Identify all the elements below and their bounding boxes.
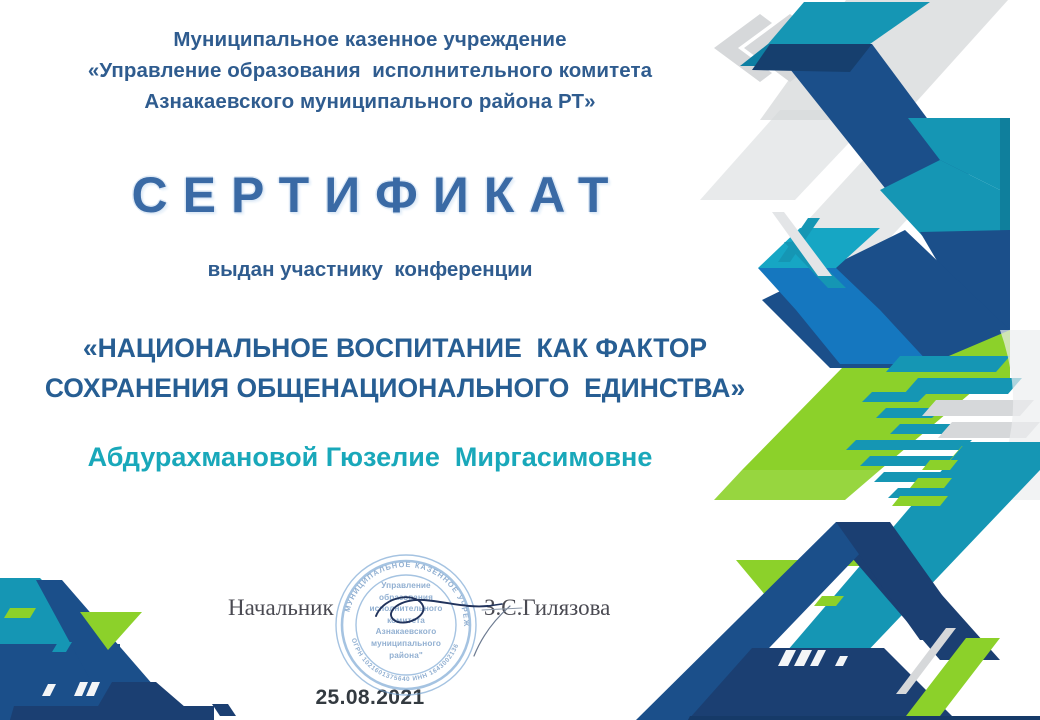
recipient-name: Абдурахмановой Гюзелие Миргасимовне xyxy=(0,442,740,473)
org-header-line-1: Муниципальное казенное учреждение xyxy=(0,24,740,55)
org-header-line-2: «Управление образования исполнительного … xyxy=(0,55,740,86)
conference-title-line-2: СОХРАНЕНИЯ ОБЩЕНАЦИОНАЛЬНОГО ЕДИНСТВА» xyxy=(0,368,790,408)
conference-title-line-1: «НАЦИОНАЛЬНОЕ ВОСПИТАНИЕ КАК ФАКТОР xyxy=(0,328,790,368)
conference-title: «НАЦИОНАЛЬНОЕ ВОСПИТАНИЕ КАК ФАКТОР СОХР… xyxy=(0,328,790,408)
organization-header: Муниципальное казенное учреждение «Управ… xyxy=(0,24,740,117)
issued-to-label: выдан участнику конференции xyxy=(0,258,740,282)
handwritten-signature xyxy=(370,570,590,660)
top-right-graphic xyxy=(700,0,1014,500)
certificate-title: СЕРТИФИКАТ xyxy=(0,166,740,224)
signatory-role: Начальник xyxy=(228,595,334,621)
org-header-line-3: Азнакаевского муниципального района РТ» xyxy=(0,86,740,117)
right-stripe-band xyxy=(886,330,1040,500)
certificate-page: Муниципальное казенное учреждение «Управ… xyxy=(0,0,1040,720)
